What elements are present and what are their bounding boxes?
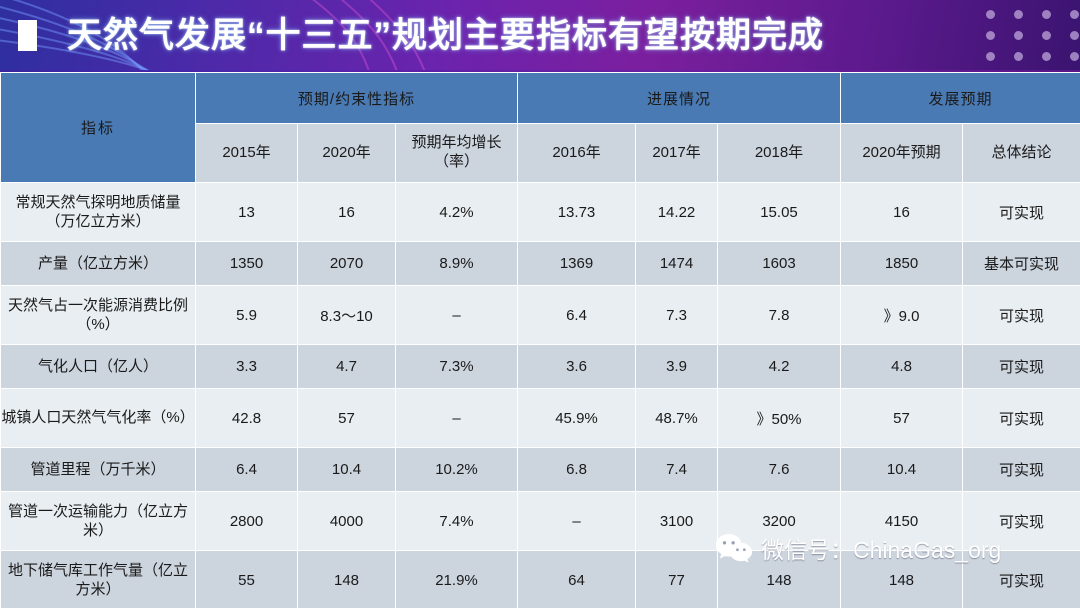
- slide-root: 天然气发展“十三五”规划主要指标有望按期完成 指标 预期/约束性指标 进展情况 …: [0, 0, 1080, 608]
- cell-value: 1474: [636, 242, 718, 286]
- header-group-expected: 预期/约束性指标: [196, 73, 518, 124]
- table-row: 天然气占一次能源消费比例（%） 5.9 8.3～10 – 6.4 7.3 7.8…: [1, 286, 1080, 345]
- cell-value: 2070: [298, 242, 396, 286]
- row-label: 常规天然气探明地质储量（万亿立方米）: [1, 183, 196, 242]
- header-sub-2017: 2017年: [636, 124, 718, 183]
- cell-value: 77: [636, 551, 718, 608]
- cell-value: 4.7: [298, 345, 396, 389]
- header-sub-2020: 2020年: [298, 124, 396, 183]
- cell-value: 13: [196, 183, 298, 242]
- header-sub-cagr: 预期年均增长（率）: [396, 124, 518, 183]
- cell-value: 48.7%: [636, 389, 718, 448]
- header-sub-2015: 2015年: [196, 124, 298, 183]
- cell-value: 7.4%: [396, 492, 518, 551]
- row-label: 天然气占一次能源消费比例（%）: [1, 286, 196, 345]
- cell-conclusion: 可实现: [963, 389, 1080, 448]
- header-sub-2016: 2016年: [518, 124, 636, 183]
- cell-value: 10.2%: [396, 448, 518, 492]
- cell-value: 5.9: [196, 286, 298, 345]
- header-indicator: 指标: [1, 73, 196, 183]
- cell-value: 3.3: [196, 345, 298, 389]
- cell-value: 16: [841, 183, 963, 242]
- cell-value: 21.9%: [396, 551, 518, 608]
- table-row: 管道一次运输能力（亿立方米） 2800 4000 7.4% – 3100 320…: [1, 492, 1080, 551]
- cell-value: 7.3%: [396, 345, 518, 389]
- cell-value: 64: [518, 551, 636, 608]
- cell-conclusion: 可实现: [963, 448, 1080, 492]
- dot-grid-icon: [980, 0, 1076, 70]
- cell-value: 148: [841, 551, 963, 608]
- page-title: 天然气发展“十三五”规划主要指标有望按期完成: [67, 6, 824, 66]
- cell-value: 7.4: [636, 448, 718, 492]
- cell-value: 15.05: [718, 183, 841, 242]
- cell-value: 》9.0: [841, 286, 963, 345]
- cell-value: 10.4: [841, 448, 963, 492]
- cell-value: 57: [298, 389, 396, 448]
- cell-conclusion: 可实现: [963, 345, 1080, 389]
- cell-value: 13.73: [518, 183, 636, 242]
- cell-value: 148: [718, 551, 841, 608]
- cell-value: 6.4: [518, 286, 636, 345]
- cell-value: 6.4: [196, 448, 298, 492]
- cell-conclusion: 可实现: [963, 492, 1080, 551]
- cell-value: 2800: [196, 492, 298, 551]
- cell-value: 8.9%: [396, 242, 518, 286]
- cell-value: 4000: [298, 492, 396, 551]
- cell-conclusion: 可实现: [963, 551, 1080, 608]
- cell-value: 4.2: [718, 345, 841, 389]
- table-body: 常规天然气探明地质储量（万亿立方米） 13 16 4.2% 13.73 14.2…: [1, 183, 1080, 608]
- cell-value: 16: [298, 183, 396, 242]
- cell-value: 3200: [718, 492, 841, 551]
- cell-value: 》50%: [718, 389, 841, 448]
- cell-value: 7.6: [718, 448, 841, 492]
- row-label: 管道一次运输能力（亿立方米）: [1, 492, 196, 551]
- cell-value: 148: [298, 551, 396, 608]
- header-sub-2018: 2018年: [718, 124, 841, 183]
- table-header-group-row: 指标 预期/约束性指标 进展情况 发展预期: [1, 73, 1080, 124]
- cell-value: 6.8: [518, 448, 636, 492]
- indicators-table-container: 指标 预期/约束性指标 进展情况 发展预期 2015年 2020年 预期年均增长…: [0, 72, 1080, 608]
- cell-value: –: [396, 389, 518, 448]
- table-row: 气化人口（亿人） 3.3 4.7 7.3% 3.6 3.9 4.2 4.8 可实…: [1, 345, 1080, 389]
- cell-conclusion: 可实现: [963, 183, 1080, 242]
- cell-value: 8.3～10: [298, 286, 396, 345]
- cell-value: 1603: [718, 242, 841, 286]
- cell-value: 55: [196, 551, 298, 608]
- cell-value: 4.8: [841, 345, 963, 389]
- cell-value: 14.22: [636, 183, 718, 242]
- row-label: 产量（亿立方米）: [1, 242, 196, 286]
- table-row: 地下储气库工作气量（亿立方米） 55 148 21.9% 64 77 148 1…: [1, 551, 1080, 608]
- row-label: 气化人口（亿人）: [1, 345, 196, 389]
- cell-value: 3.9: [636, 345, 718, 389]
- cell-value: 7.3: [636, 286, 718, 345]
- cell-value: –: [396, 286, 518, 345]
- cell-value: 3.6: [518, 345, 636, 389]
- table-row: 常规天然气探明地质储量（万亿立方米） 13 16 4.2% 13.73 14.2…: [1, 183, 1080, 242]
- cell-value: 1350: [196, 242, 298, 286]
- table-row: 管道里程（万千米） 6.4 10.4 10.2% 6.8 7.4 7.6 10.…: [1, 448, 1080, 492]
- cell-value: 4.2%: [396, 183, 518, 242]
- title-bar: 天然气发展“十三五”规划主要指标有望按期完成: [0, 0, 1080, 70]
- header-group-outlook: 发展预期: [841, 73, 1080, 124]
- header-sub-2020-forecast: 2020年预期: [841, 124, 963, 183]
- cell-value: 1850: [841, 242, 963, 286]
- cell-value: 3100: [636, 492, 718, 551]
- header-group-progress: 进展情况: [518, 73, 841, 124]
- cell-value: –: [518, 492, 636, 551]
- cell-value: 42.8: [196, 389, 298, 448]
- cell-value: 45.9%: [518, 389, 636, 448]
- row-label: 管道里程（万千米）: [1, 448, 196, 492]
- table-head: 指标 预期/约束性指标 进展情况 发展预期 2015年 2020年 预期年均增长…: [1, 73, 1080, 183]
- cell-value: 4150: [841, 492, 963, 551]
- header-sub-conclusion: 总体结论: [963, 124, 1080, 183]
- cell-value: 10.4: [298, 448, 396, 492]
- cell-conclusion: 可实现: [963, 286, 1080, 345]
- table-row: 城镇人口天然气气化率（%） 42.8 57 – 45.9% 48.7% 》50%…: [1, 389, 1080, 448]
- row-label: 城镇人口天然气气化率（%）: [1, 389, 196, 448]
- table-row: 产量（亿立方米） 1350 2070 8.9% 1369 1474 1603 1…: [1, 242, 1080, 286]
- square-bullet-icon: [18, 20, 37, 51]
- row-label: 地下储气库工作气量（亿立方米）: [1, 551, 196, 608]
- cell-value: 7.8: [718, 286, 841, 345]
- cell-value: 57: [841, 389, 963, 448]
- cell-conclusion: 基本可实现: [963, 242, 1080, 286]
- cell-value: 1369: [518, 242, 636, 286]
- indicators-table: 指标 预期/约束性指标 进展情况 发展预期 2015年 2020年 预期年均增长…: [0, 72, 1080, 608]
